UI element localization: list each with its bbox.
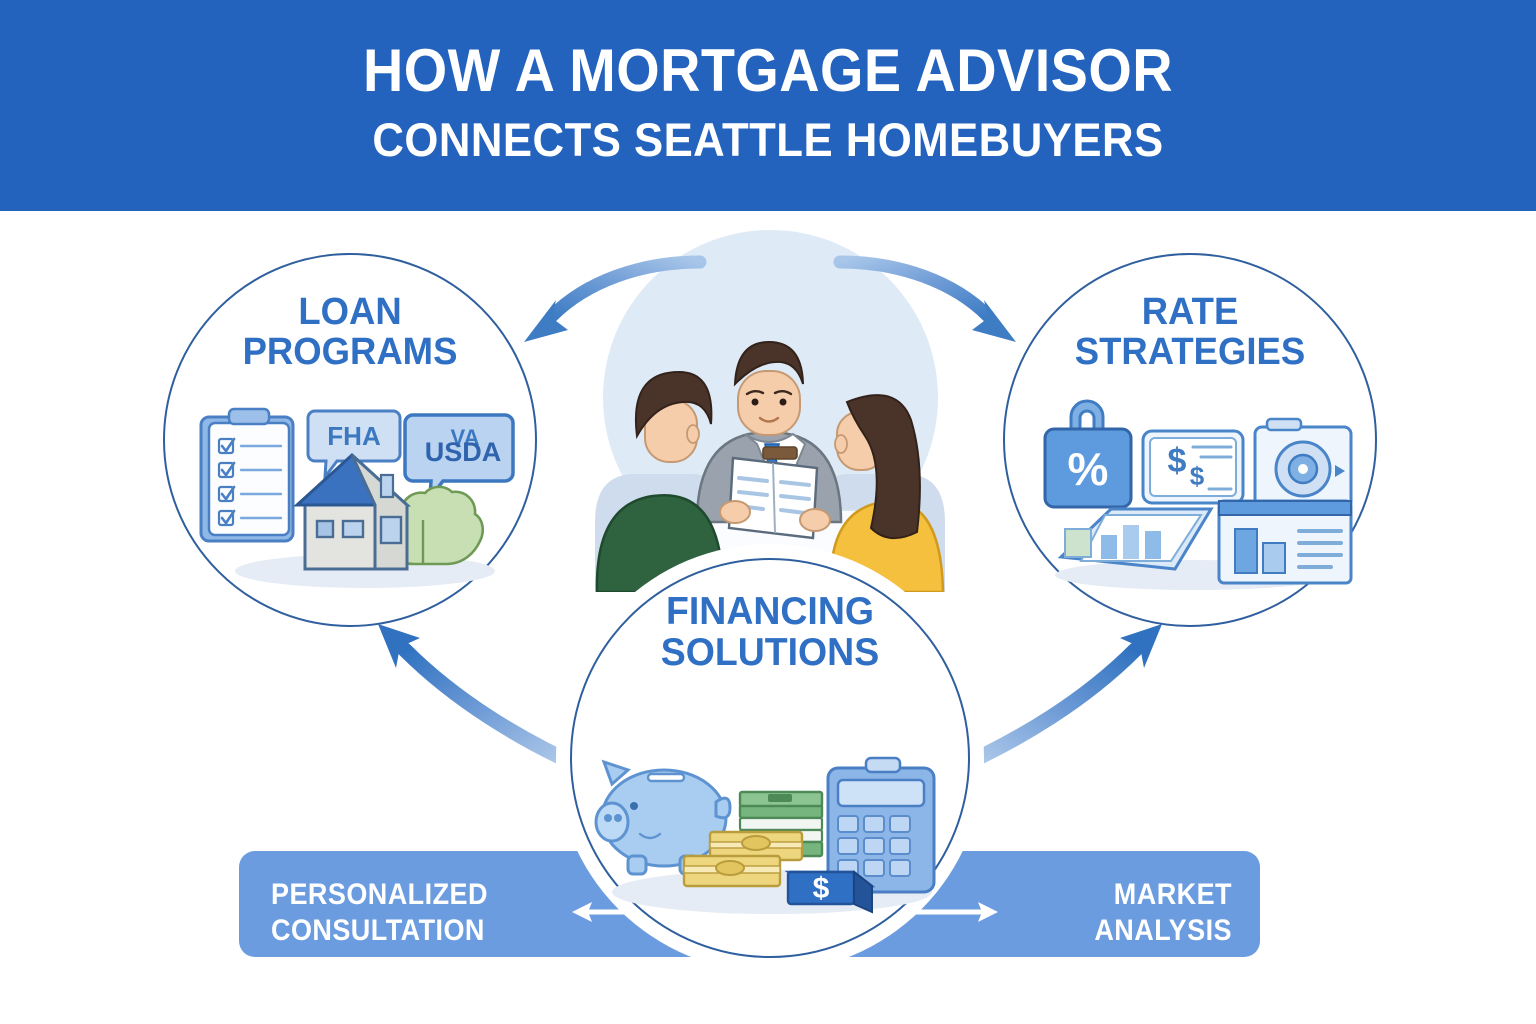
page-title: HOW A MORTGAGE ADVISOR — [54, 36, 1482, 106]
financing-solutions-artwork: $ — [572, 706, 972, 936]
node-rate-strategies[interactable]: RATE STRATEGIES % $ $ — [1003, 253, 1377, 627]
node-financing-solutions[interactable]: FINANCING SOLUTIONS — [570, 558, 970, 958]
consultation-people-artwork — [585, 222, 955, 592]
svg-text:$: $ — [1190, 461, 1205, 491]
advisor-hand-right — [800, 509, 830, 531]
header-band: HOW A MORTGAGE ADVISOR CONNECTS SEATTLE … — [0, 0, 1536, 211]
infographic-page: HOW A MORTGAGE ADVISOR CONNECTS SEATTLE … — [0, 0, 1536, 1024]
arrow-financing-to-rate-icon — [952, 624, 1162, 770]
node-title-financing-solutions: FINANCING SOLUTIONS — [580, 592, 960, 673]
banner-left-line1: PERSONALIZED — [271, 878, 488, 911]
node-title-line2: SOLUTIONS — [661, 631, 879, 674]
target-dashboard-icon — [1255, 419, 1351, 509]
clipboard-checklist-icon — [201, 409, 293, 541]
banner-right-line2: ANALYSIS — [1094, 914, 1232, 947]
banner-left-line2: CONSULTATION — [271, 914, 485, 947]
mortgage-advisor-consultation-illustration — [585, 222, 955, 592]
va-usda-speech-bubble-icon: VA USDA — [405, 415, 513, 498]
loan-programs-artwork: FHA VA USDA — [165, 389, 539, 599]
node-title-rate-strategies: RATE STRATEGIES — [1012, 293, 1367, 372]
node-title-loan-programs: LOAN PROGRAMS — [172, 293, 527, 372]
svg-text:$: $ — [1168, 442, 1187, 480]
percent-briefcase-icon: % — [1045, 401, 1131, 507]
node-title-line1: RATE — [1142, 291, 1239, 333]
banner-label-market-analysis: MARKET ANALYSIS — [1025, 877, 1232, 949]
node-title-line2: PROGRAMS — [243, 331, 458, 373]
rate-strategies-artwork: % $ $ — [1005, 389, 1379, 599]
arrow-financing-to-loan-icon — [378, 624, 588, 770]
page-subtitle: CONNECTS SEATTLE HOMEBUYERS — [54, 112, 1482, 168]
badge-percent-label: % — [1068, 443, 1109, 495]
badge-usda-label: USDA — [425, 437, 502, 467]
node-loan-programs[interactable]: LOAN PROGRAMS — [163, 253, 537, 627]
node-title-line1: LOAN — [298, 291, 401, 333]
banner-label-personalized-consultation: PERSONALIZED CONSULTATION — [271, 877, 550, 949]
badge-fha-label: FHA — [327, 421, 381, 451]
banner-right-line1: MARKET — [1114, 878, 1232, 911]
tablet-chart-icon — [1061, 509, 1211, 569]
badge-dollar-label: $ — [813, 872, 830, 905]
node-title-line1: FINANCING — [666, 590, 874, 633]
bar-chart-report-icon — [1219, 501, 1351, 583]
advisor-hand-left — [720, 501, 750, 523]
node-title-line2: STRATEGIES — [1075, 331, 1305, 373]
dollar-card-icon: $ $ — [1143, 431, 1243, 503]
house-icon — [297, 455, 407, 569]
